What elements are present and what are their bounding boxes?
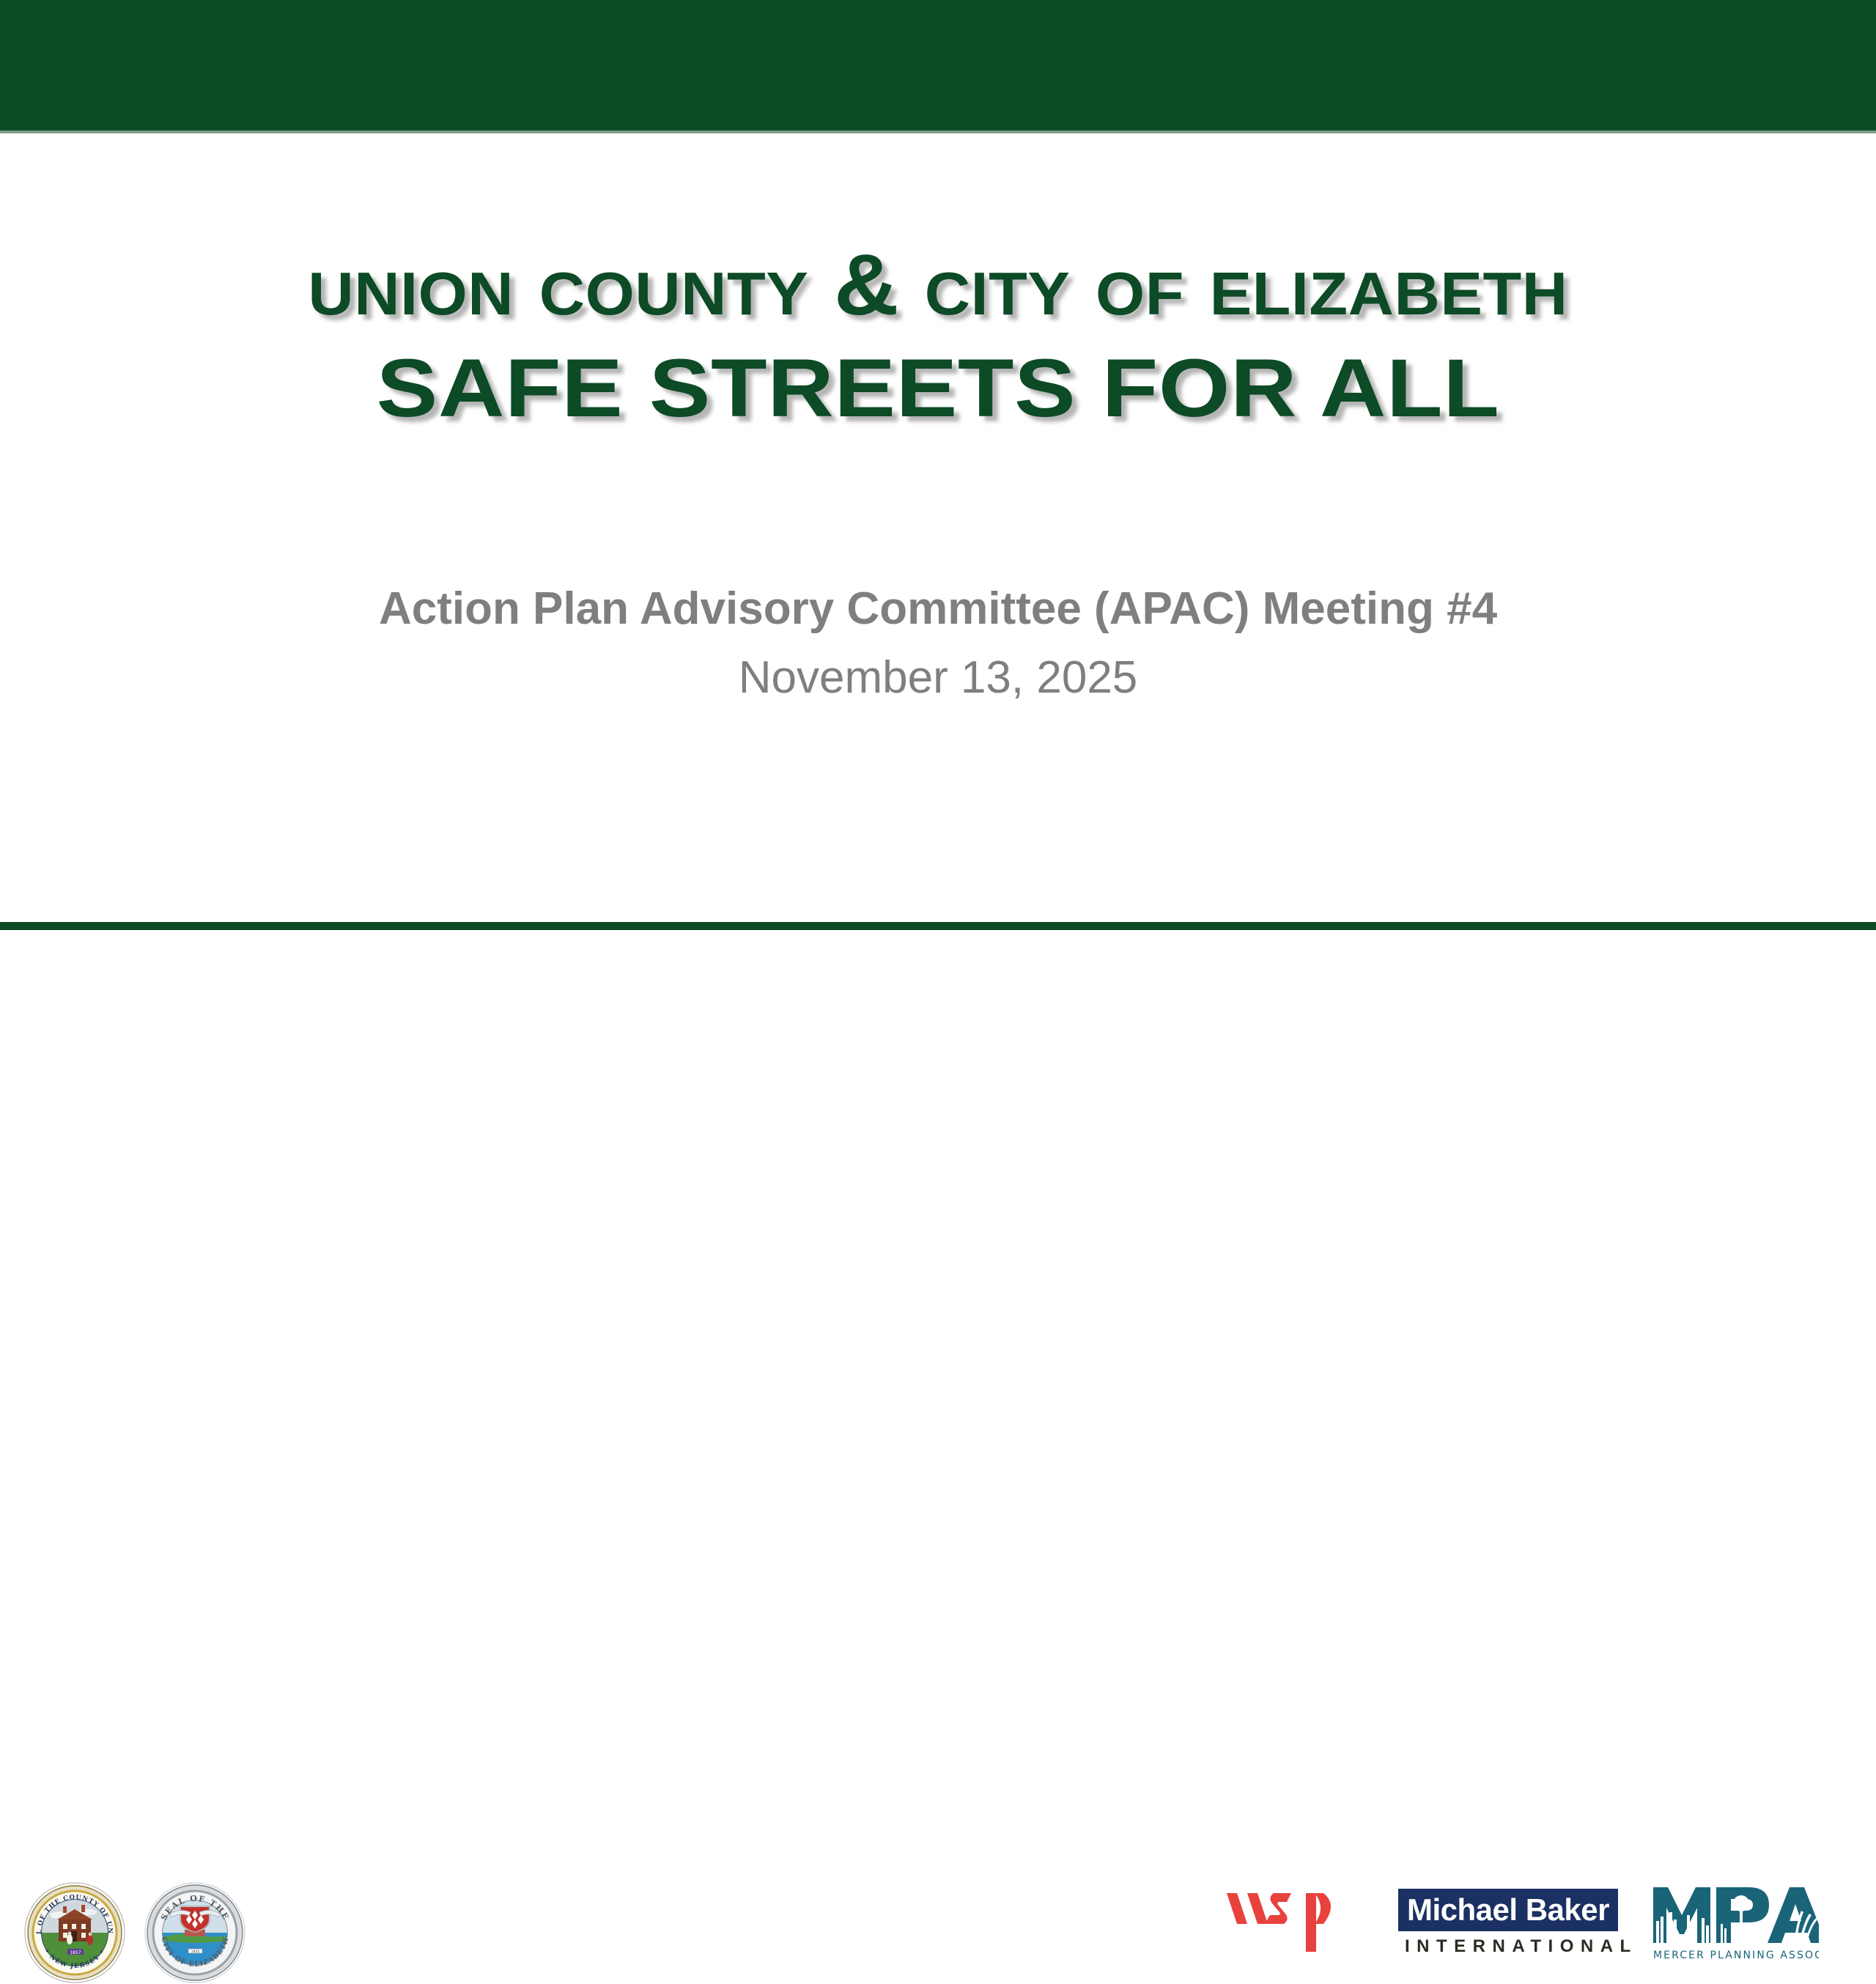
svg-text:1855: 1855 <box>191 1950 200 1954</box>
subtitle: Action Plan Advisory Committee (APAC) Me… <box>0 580 1876 706</box>
michael-baker-text: Michael Baker <box>1407 1895 1609 1925</box>
header-band-rule <box>0 130 1876 133</box>
subtitle-date: November 13, 2025 <box>0 649 1876 707</box>
wsp-logo <box>1225 1887 1372 1957</box>
mercer-planning-associates-logo: MERCER PLANNING ASSOCIATES <box>1650 1883 1819 1963</box>
title-slide: Union County & City of Elizabeth SAFE ST… <box>0 0 1876 1055</box>
header-green-band <box>0 0 1876 130</box>
page-title: Union County & City of Elizabeth SAFE ST… <box>0 242 1876 429</box>
union-county-seal: 1857 SEAL OF THE COUNTY OF UNION • NEW J… <box>23 1881 126 1984</box>
mpa-tagline-text: MERCER PLANNING ASSOCIATES <box>1653 1950 1819 1961</box>
city-of-elizabeth-seal: 1855 SEAL OF THE CITY OF ELIZABETH <box>144 1881 246 1984</box>
title-line-primary: Union County & City of Elizabeth <box>0 242 1876 328</box>
international-text: INTERNATIONAL <box>1398 1931 1618 1955</box>
michael-baker-wordmark: Michael Baker <box>1398 1889 1618 1931</box>
svg-text:1857: 1857 <box>70 1950 81 1955</box>
subtitle-meeting: Action Plan Advisory Committee (APAC) Me… <box>0 580 1876 638</box>
footer: 1857 SEAL OF THE COUNTY OF UNION • NEW J… <box>0 930 1876 1055</box>
title-line-secondary: SAFE STREETS FOR ALL <box>0 347 1876 429</box>
footer-divider <box>0 922 1876 930</box>
michael-baker-international-logo: Michael Baker INTERNATIONAL <box>1398 1889 1618 1956</box>
